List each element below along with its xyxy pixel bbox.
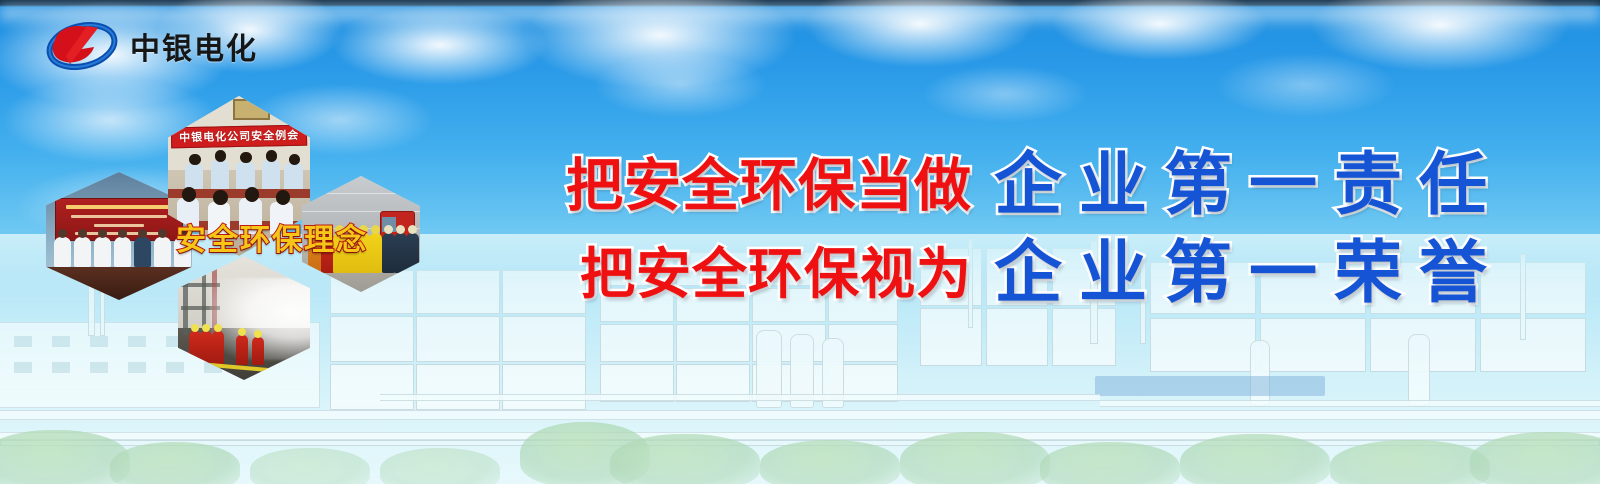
company-name: 中银电化	[130, 24, 258, 68]
slogan-line2-red: 把安全环保视为	[580, 247, 972, 302]
company-logo[interactable]: 中银电化	[46, 20, 258, 72]
slogan-line-1: 把安全环保当做企业第一责任	[566, 152, 1504, 220]
slogan-block: 把安全环保当做企业第一责任 把安全环保视为企业第一荣誉	[566, 152, 1504, 308]
safety-banner: 中银电化	[0, 0, 1600, 484]
meeting-banner-text: 中银电化公司安全例会	[171, 125, 308, 149]
slogan-line1-red: 把安全环保当做	[566, 158, 972, 215]
slogan-line2-blue: 企业第一荣誉	[994, 240, 1504, 308]
zhongyin-swoosh-icon	[46, 20, 118, 72]
slogan-line1-blue: 企业第一责任	[994, 152, 1504, 220]
collage-photo-fire-drill-spray[interactable]	[178, 256, 310, 380]
collage-slogan: 安全环保理念	[176, 215, 368, 259]
slogan-line-2: 把安全环保视为企业第一荣誉	[566, 240, 1504, 308]
